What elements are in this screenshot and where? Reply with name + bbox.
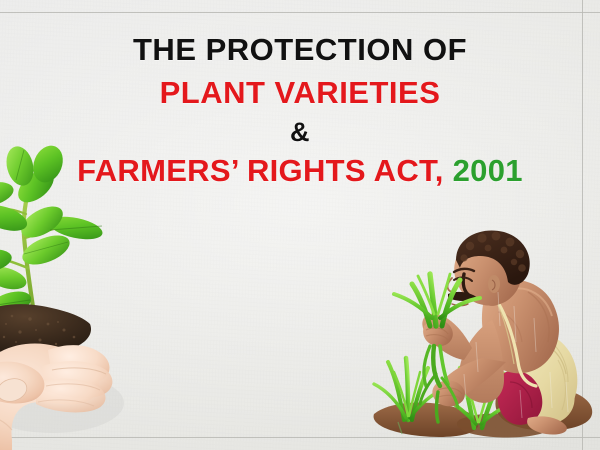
title-line-plant-varieties: PLANT VARIETIES — [0, 77, 600, 108]
hand-graphic — [0, 344, 112, 450]
title-year-text: 2001 — [453, 153, 523, 188]
hand-holding-seedling-photo — [0, 118, 170, 450]
top-divider-line — [0, 12, 600, 13]
seedling-graphic — [0, 141, 104, 321]
farmer-planting-rice-illustration — [368, 222, 600, 446]
title-line-protection-of: THE PROTECTION OF — [0, 34, 600, 65]
farmer-figure — [394, 230, 577, 434]
slide-canvas: THE PROTECTION OF PLANT VARIETIES & FARM… — [0, 0, 600, 450]
